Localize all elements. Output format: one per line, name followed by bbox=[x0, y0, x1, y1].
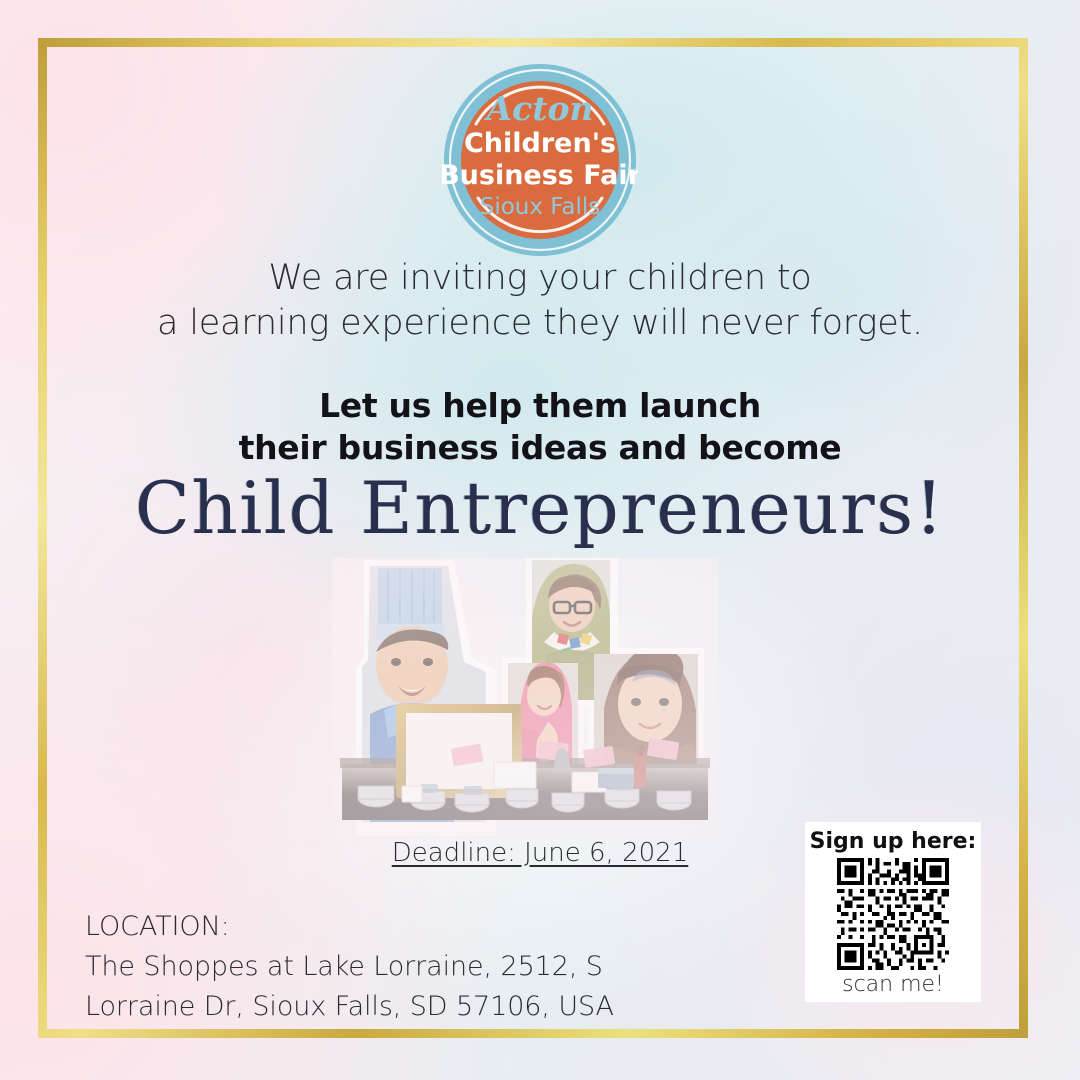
logo-city: Sioux Falls bbox=[480, 194, 601, 220]
logo-line1: Children's bbox=[464, 128, 616, 159]
logo-script-name: Acton bbox=[484, 89, 594, 128]
acton-logo: Acton Children's Business Fair Sioux Fal… bbox=[442, 62, 638, 258]
photo-collage bbox=[332, 558, 718, 838]
qr-code-image[interactable] bbox=[837, 858, 949, 970]
page-title: Child Entrepreneurs! bbox=[0, 466, 1080, 550]
subheading-text: Let us help them launch their business i… bbox=[0, 385, 1080, 469]
logo-line2: Business Fair bbox=[442, 160, 638, 191]
location-line-2: Lorraine Dr, Sioux Falls, SD 57106, USA bbox=[85, 987, 614, 1027]
deadline-value: Deadline: June 6, 2021 bbox=[392, 838, 689, 868]
scan-me-caption: scan me! bbox=[842, 972, 944, 998]
intro-line-2: a learning experience they will never fo… bbox=[0, 301, 1080, 346]
location-line-1: The Shoppes at Lake Lorraine, 2512, S bbox=[85, 947, 614, 987]
location-label: LOCATION: bbox=[85, 907, 614, 947]
photo-collage-svg bbox=[332, 558, 718, 838]
location-block: LOCATION: The Shoppes at Lake Lorraine, … bbox=[85, 907, 614, 1027]
signup-title: Sign up here: bbox=[810, 829, 977, 855]
signup-qr-card[interactable]: Sign up here: bbox=[805, 822, 981, 1002]
subheading-line-2: their business ideas and become bbox=[0, 427, 1080, 469]
flyer-canvas: Acton Children's Business Fair Sioux Fal… bbox=[0, 0, 1080, 1080]
acton-logo-svg: Acton Children's Business Fair Sioux Fal… bbox=[442, 62, 638, 258]
intro-text: We are inviting your children to a learn… bbox=[0, 256, 1080, 346]
subheading-line-1: Let us help them launch bbox=[0, 385, 1080, 427]
intro-line-1: We are inviting your children to bbox=[0, 256, 1080, 301]
